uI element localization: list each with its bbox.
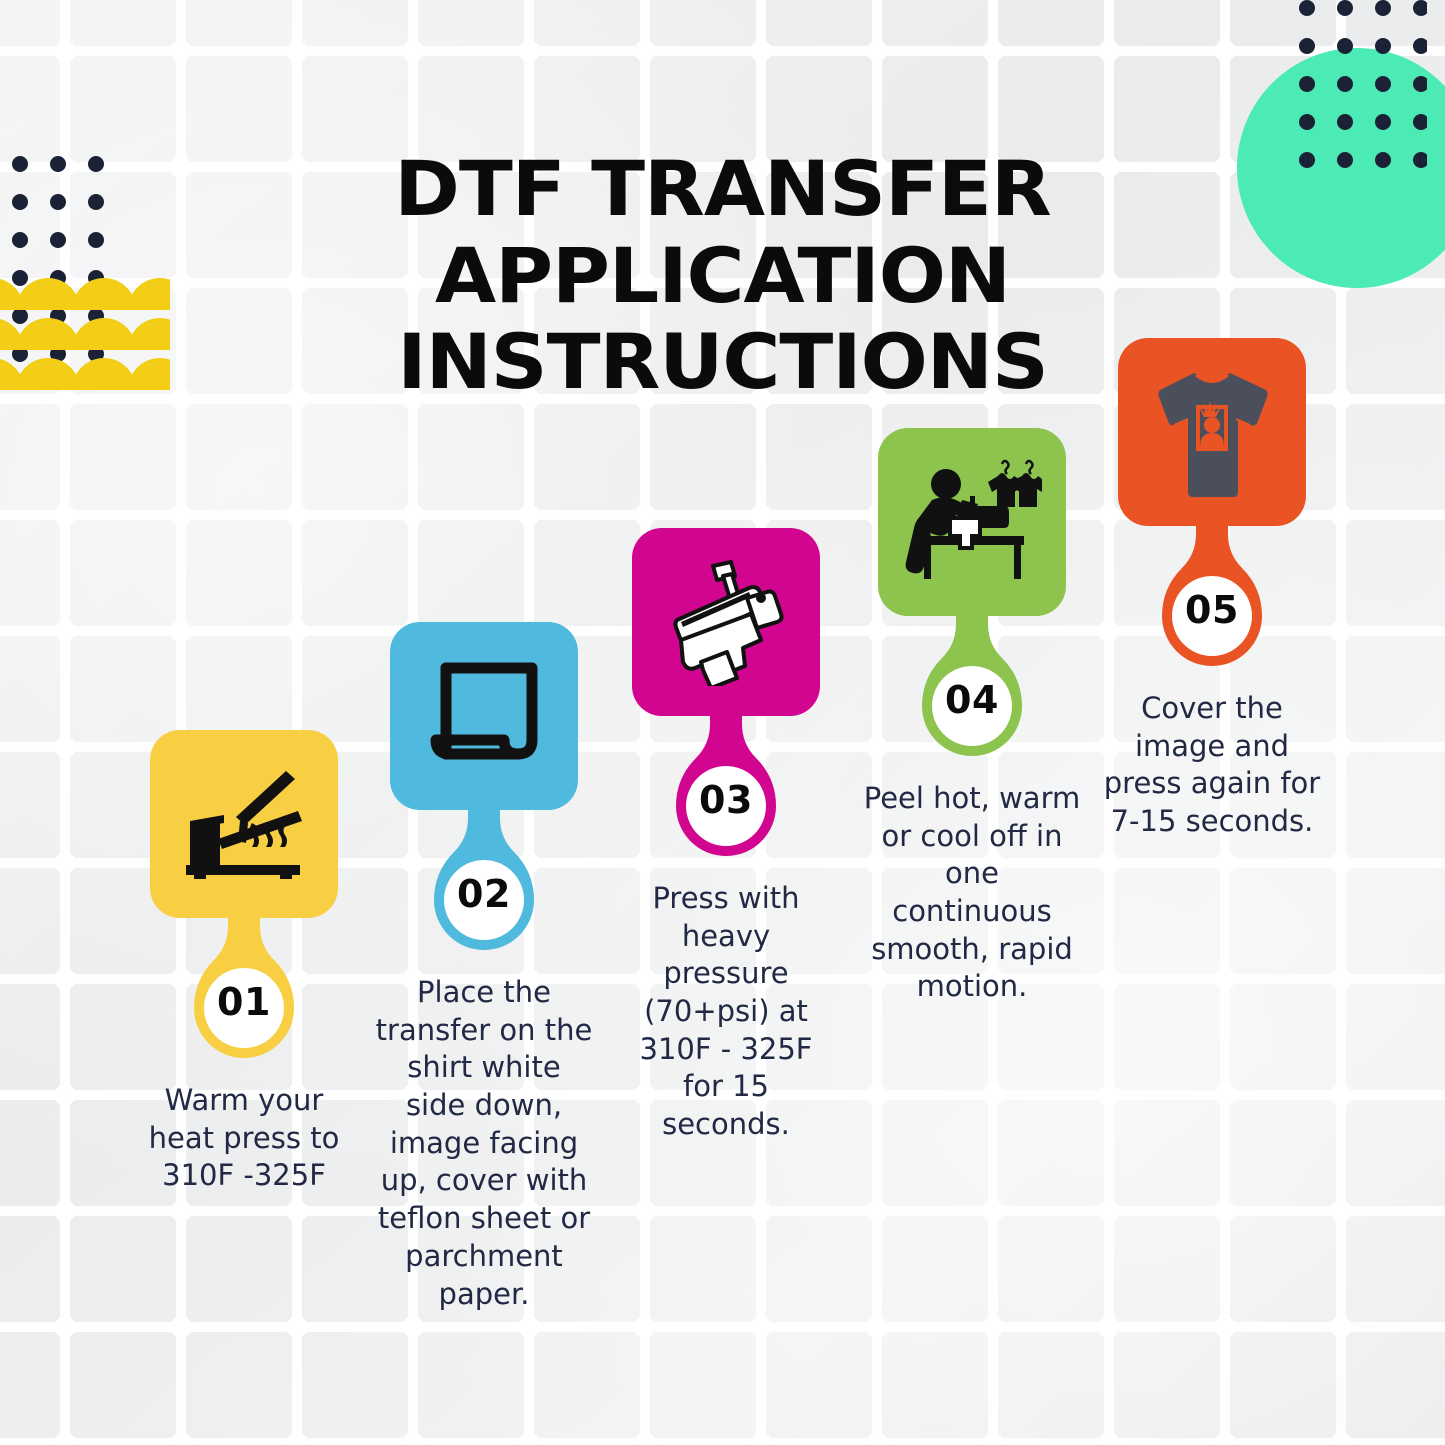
step-01-connector: 01	[128, 916, 360, 1068]
infographic-poster: DTF TRANSFER APPLICATION INSTRUCTIONS	[0, 0, 1445, 1445]
step-05: 05 Cover the image and press again for 7…	[1096, 338, 1328, 841]
heat-press-open-icon	[180, 769, 308, 879]
step-05-connector: 05	[1096, 524, 1328, 676]
step-03: 03 Press with heavy pressure (70+psi) at…	[610, 528, 842, 1144]
step-04: 04 Peel hot, warm or cool off in one con…	[856, 428, 1088, 1006]
step-05-icon-card[interactable]	[1118, 338, 1306, 526]
step-04-connector: 04	[856, 614, 1088, 766]
step-01: 01 Warm your heat press to 310F -325F	[128, 730, 360, 1195]
step-03-caption: Press with heavy pressure (70+psi) at 31…	[610, 880, 842, 1144]
step-02-connector: 02	[368, 808, 600, 960]
step-03-icon-card[interactable]	[632, 528, 820, 716]
step-02-number: 02	[368, 872, 600, 916]
heat-press-machine-icon	[661, 558, 791, 686]
step-01-caption: Warm your heat press to 310F -325F	[128, 1082, 360, 1195]
peeling-transfer-icon	[902, 458, 1042, 586]
transfer-sheet-icon	[424, 658, 544, 774]
step-04-caption: Peel hot, warm or cool off in one contin…	[856, 780, 1088, 1006]
step-02-caption: Place the transfer on the shirt white si…	[368, 974, 600, 1313]
step-04-icon-card[interactable]	[878, 428, 1066, 616]
step-01-number: 01	[128, 980, 360, 1024]
step-04-number: 04	[856, 678, 1088, 722]
step-02-icon-card[interactable]	[390, 622, 578, 810]
step-05-caption: Cover the image and press again for 7-15…	[1096, 690, 1328, 841]
step-02: 02 Place the transfer on the shirt white…	[368, 622, 600, 1313]
step-03-connector: 03	[610, 714, 842, 866]
step-05-number: 05	[1096, 588, 1328, 632]
step-01-icon-card[interactable]	[150, 730, 338, 918]
printed-tshirt-icon	[1142, 367, 1282, 497]
steps-container: 01 Warm your heat press to 310F -325F	[0, 0, 1445, 1445]
step-03-number: 03	[610, 778, 842, 822]
